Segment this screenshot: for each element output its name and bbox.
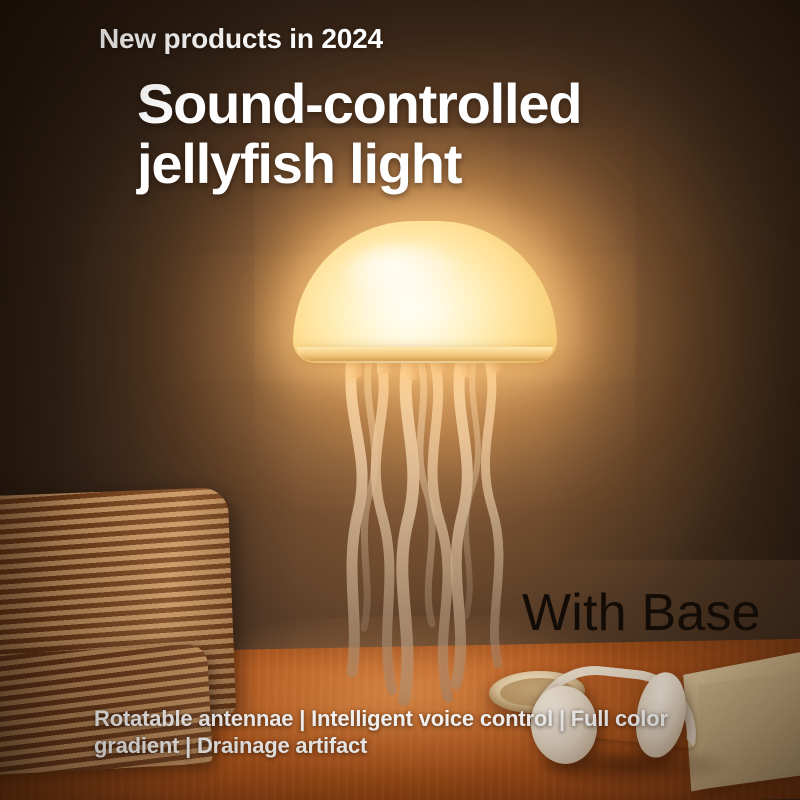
headline-line-2: jellyfish light xyxy=(137,134,581,194)
headline-line-1: Sound-controlled xyxy=(137,74,581,134)
feature-list-text: Rotatable antennae | Intelligent voice c… xyxy=(94,706,744,760)
kicker-text: New products in 2024 xyxy=(99,23,383,55)
page-title: Sound-controlled jellyfish light xyxy=(137,74,581,195)
product-banner: New products in 2024 Sound-controlled je… xyxy=(0,0,800,800)
lamp-dome-rim xyxy=(297,347,553,361)
with-base-badge: With Base xyxy=(522,583,761,643)
lamp-dome-highlight xyxy=(345,244,465,306)
